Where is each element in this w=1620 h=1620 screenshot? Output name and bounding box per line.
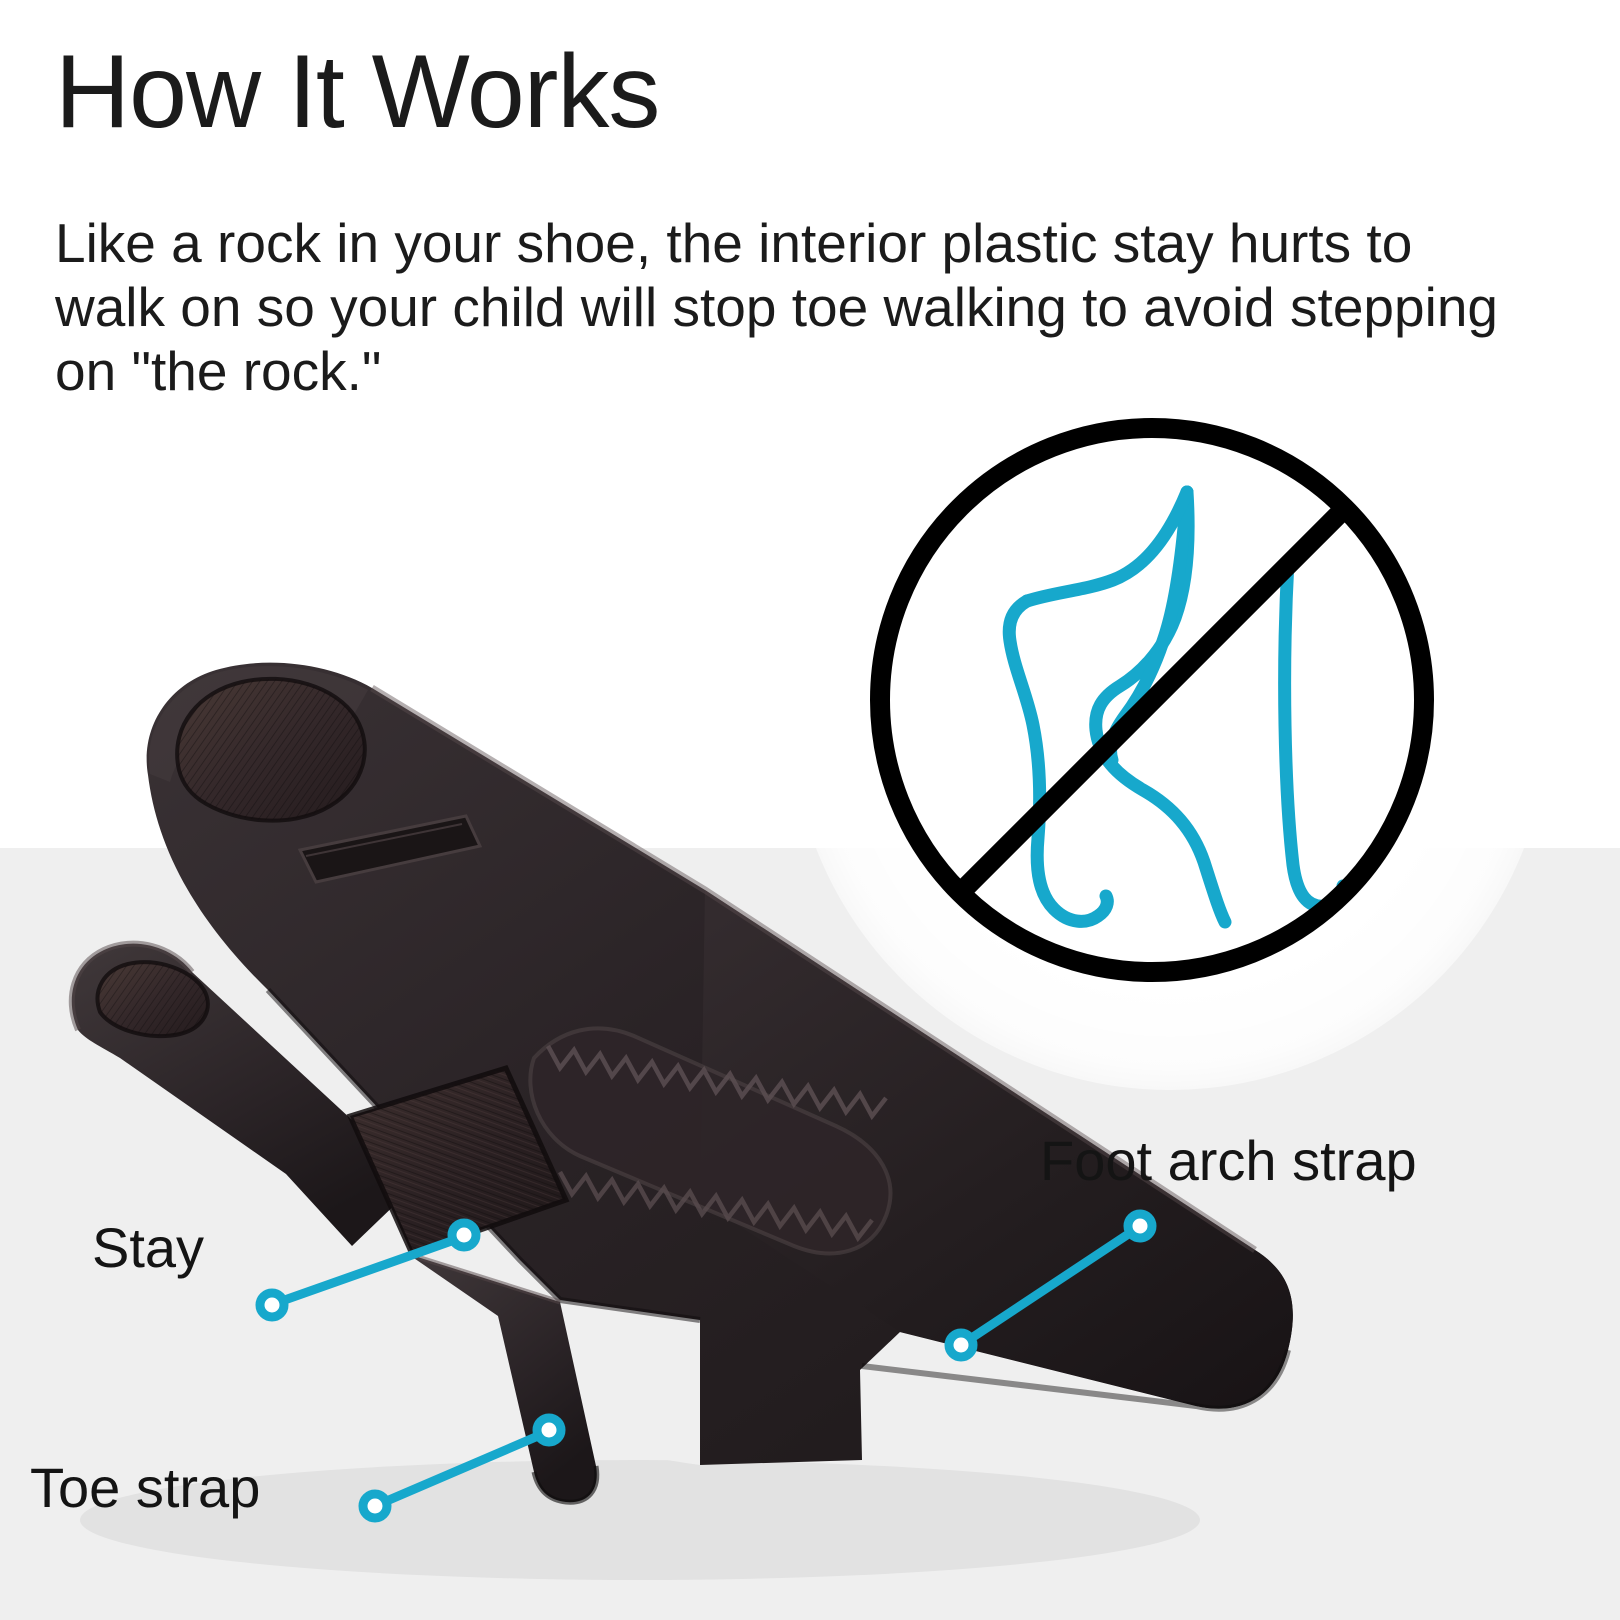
callout-toe-strap-label: Toe strap bbox=[30, 1455, 260, 1520]
hook-and-loop-patch-top bbox=[177, 679, 365, 821]
callout-foot-arch-strap-label: Foot arch strap bbox=[1040, 1128, 1417, 1193]
callout-stay-label: Stay bbox=[92, 1215, 204, 1280]
description-paragraph: Like a rock in your shoe, the interior p… bbox=[55, 212, 1535, 403]
page-title: How It Works bbox=[55, 38, 659, 147]
infographic-canvas: How It Works Like a rock in your shoe, t… bbox=[0, 0, 1620, 1620]
